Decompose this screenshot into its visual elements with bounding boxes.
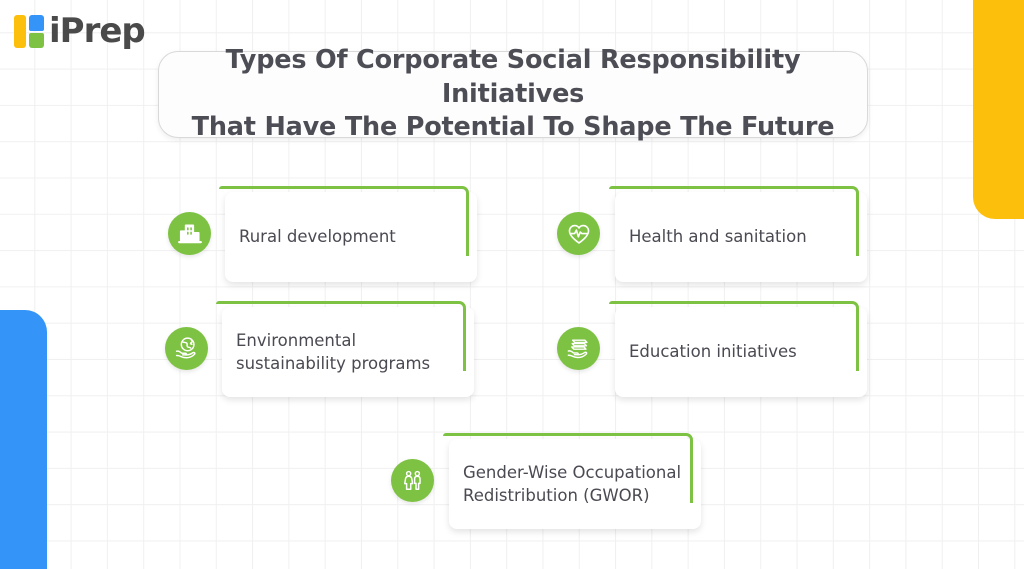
card-environmental-sustainability[interactable]: Environmental sustainability programs	[216, 301, 474, 397]
logo-blue-square	[29, 15, 44, 31]
hand-holding-books-icon	[557, 327, 600, 370]
infographic-canvas: iPrep Types Of Corporate Social Responsi…	[0, 0, 1024, 569]
logo-mark-icon	[14, 15, 44, 48]
card-education-initiatives[interactable]: Education initiatives	[609, 301, 867, 397]
village-buildings-icon	[168, 212, 211, 255]
logo-yellow-bar	[14, 15, 26, 48]
heart-pulse-icon	[557, 212, 600, 255]
page-title-line-1: Types Of Corporate Social Responsibility…	[226, 45, 801, 109]
iprep-logo: iPrep	[14, 14, 145, 48]
card-health-sanitation[interactable]: Health and sanitation	[609, 186, 867, 282]
two-people-icon	[391, 459, 434, 502]
logo-wordmark: iPrep	[49, 14, 145, 48]
hand-holding-globe-icon	[165, 327, 208, 370]
page-title-line-2: That Have The Potential To Shape The Fut…	[192, 112, 835, 142]
yellow-corner-shape	[973, 0, 1024, 219]
card-label: Education initiatives	[629, 301, 857, 403]
card-rural-development[interactable]: Rural development	[219, 186, 477, 282]
card-label: Health and sanitation	[629, 186, 857, 288]
card-label: Gender-Wise Occupational Redistribution …	[463, 433, 691, 535]
logo-green-square	[29, 33, 44, 48]
card-label: Environmental sustainability programs	[236, 301, 464, 403]
page-title-box: Types Of Corporate Social Responsibility…	[158, 51, 868, 138]
card-label: Rural development	[239, 186, 467, 288]
card-gwor[interactable]: Gender-Wise Occupational Redistribution …	[443, 433, 701, 529]
page-title: Types Of Corporate Social Responsibility…	[159, 44, 867, 145]
blue-corner-shape	[0, 310, 47, 569]
